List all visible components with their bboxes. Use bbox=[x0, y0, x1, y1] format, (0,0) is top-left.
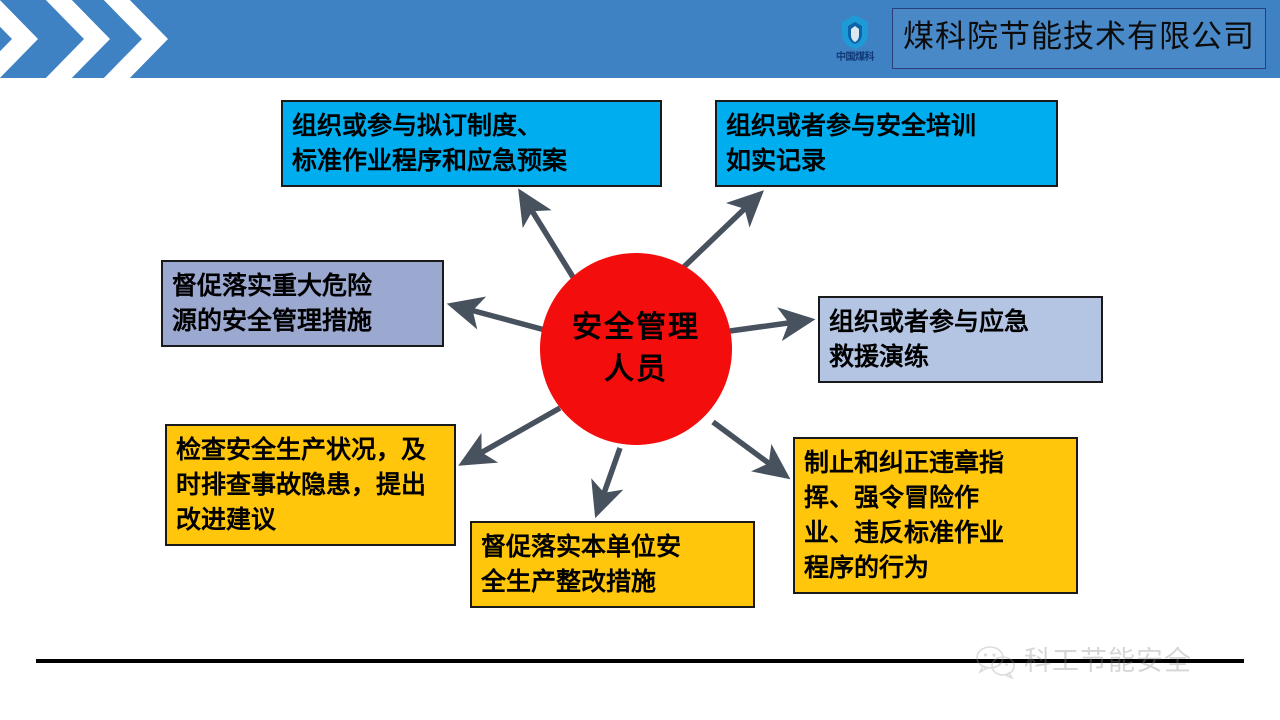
header-brand: 中国煤科 煤科院节能技术有限公司 bbox=[826, 5, 1266, 71]
wechat-icon bbox=[975, 645, 1017, 679]
chevron-right-icon bbox=[96, 0, 182, 78]
coal-science-logo-icon: 中国煤科 bbox=[826, 7, 884, 69]
radial-diagram: 安全管理 人员 组织或参与拟订制度、 标准作业程序和应急预案 组织或者参与安全培… bbox=[0, 78, 1280, 638]
header-band: 中国煤科 煤科院节能技术有限公司 bbox=[0, 0, 1280, 78]
logo-caption: 中国煤科 bbox=[836, 52, 874, 63]
node-major-hazard-control[interactable]: 督促落实重大危险 源的安全管理措施 bbox=[161, 260, 444, 347]
footer-watermark: 科工节能安全 bbox=[975, 645, 1192, 679]
node-rectification-label: 督促落实本单位安 全生产整改措施 bbox=[481, 529, 744, 599]
slide-canvas: 中国煤科 煤科院节能技术有限公司 bbox=[0, 0, 1280, 720]
node-emergency-drill-label: 组织或者参与应急 救援演练 bbox=[829, 304, 1092, 374]
node-major-hazard-control-label: 督促落实重大危险 源的安全管理措施 bbox=[172, 268, 433, 338]
node-rectification[interactable]: 督促落实本单位安 全生产整改措施 bbox=[470, 521, 755, 608]
node-stop-violations[interactable]: 制止和纠正违章指 挥、强令冒险作 业、违反标准作业 程序的行为 bbox=[793, 437, 1078, 594]
footer-watermark-label: 科工节能安全 bbox=[1024, 647, 1192, 677]
node-training[interactable]: 组织或者参与安全培训 如实记录 bbox=[715, 100, 1058, 187]
node-safety-inspection[interactable]: 检查安全生产状况，及 时排查事故隐患，提出 改进建议 bbox=[165, 424, 456, 546]
center-node-safety-manager[interactable]: 安全管理 人员 bbox=[540, 253, 732, 445]
node-training-label: 组织或者参与安全培训 如实记录 bbox=[726, 108, 1047, 178]
node-emergency-drill[interactable]: 组织或者参与应急 救援演练 bbox=[818, 296, 1103, 383]
node-regulations[interactable]: 组织或参与拟订制度、 标准作业程序和应急预案 bbox=[281, 100, 662, 187]
center-node-line-1: 安全管理 bbox=[572, 307, 700, 349]
node-regulations-label: 组织或参与拟订制度、 标准作业程序和应急预案 bbox=[292, 108, 651, 178]
page-title: 煤科院节能技术有限公司 bbox=[903, 20, 1255, 54]
center-node-line-2: 人员 bbox=[604, 349, 668, 391]
node-safety-inspection-label: 检查安全生产状况，及 时排查事故隐患，提出 改进建议 bbox=[176, 432, 445, 537]
node-stop-violations-label: 制止和纠正违章指 挥、强令冒险作 业、违反标准作业 程序的行为 bbox=[804, 445, 1067, 585]
header-title-box: 煤科院节能技术有限公司 bbox=[892, 8, 1266, 69]
